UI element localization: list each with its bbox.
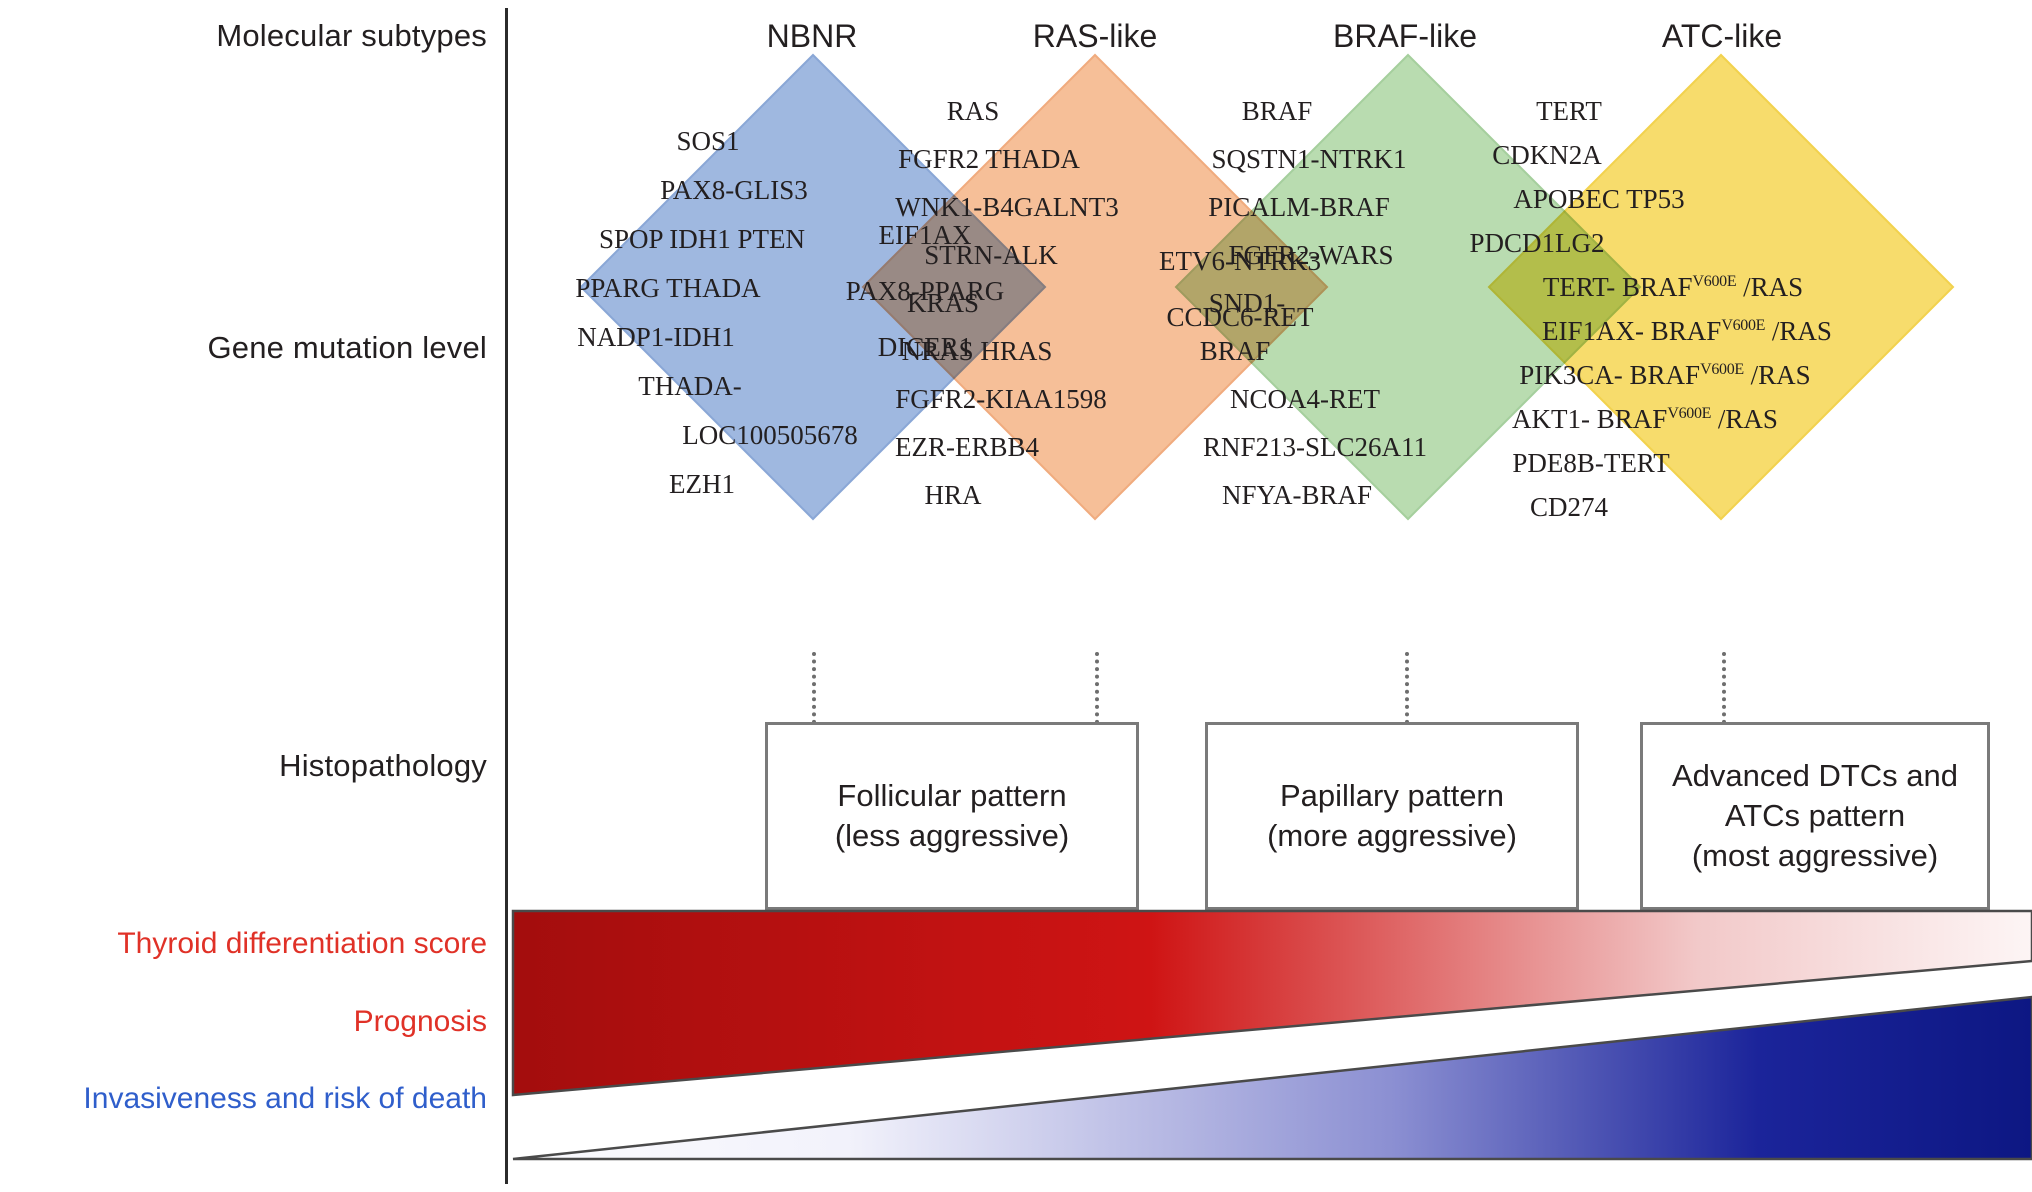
histopathology-box-follicular: Follicular pattern(less aggressive): [765, 722, 1139, 910]
row-label-molecular-subtypes: Molecular subtypes: [216, 18, 487, 54]
histopathology-box-papillary: Papillary pattern(more aggressive): [1205, 722, 1579, 910]
gene-list-nbnr: SOS1PAX8-GLIS3SPOP IDH1 PTENPPARG THADAN…: [558, 128, 858, 520]
histopathology-text-advanced: Advanced DTCs andATCs pattern(most aggre…: [1672, 756, 1958, 875]
gradient-wedges-svg: [505, 905, 2032, 1167]
gene-braf-item: NCOA4-RET: [1155, 386, 1455, 413]
gene-nbnr-item: SPOP IDH1 PTEN: [552, 226, 852, 253]
gene-atc-item: PDE8B-TERT: [1381, 450, 1801, 477]
column-header-braf-like: BRAF-like: [1333, 18, 1477, 55]
gene-ras-item: FGFR2-KIAA1598: [851, 386, 1151, 413]
column-header-ras-like: RAS-like: [1033, 18, 1157, 55]
gene-nbnr-item: PPARG THADA: [518, 275, 818, 302]
gene-ras-item: STRN-ALK: [841, 242, 1141, 269]
row-label-prognosis: Prognosis: [354, 1005, 487, 1039]
connector-ras-like: [1095, 652, 1099, 724]
histopathology-line: ATCs pattern: [1672, 796, 1958, 836]
connector-nbnr: [812, 652, 816, 724]
gene-nbnr-item: SOS1: [558, 128, 858, 155]
column-header-nbnr: NBNR: [767, 18, 858, 55]
histopathology-line: (more aggressive): [1267, 816, 1517, 856]
gene-atc-item: PDCD1LG2: [1327, 230, 1747, 257]
histopathology-line: Advanced DTCs and: [1672, 756, 1958, 796]
connector-braf-like: [1405, 652, 1409, 724]
histopathology-line: Follicular pattern: [835, 776, 1069, 816]
gene-ras-item: KRAS: [793, 290, 1093, 317]
gene-braf-item: BRAF: [1085, 338, 1385, 365]
connector-atc-like: [1722, 652, 1726, 724]
gene-ras-item: HRA: [803, 482, 1103, 509]
row-label-gene-mutation-level: Gene mutation level: [207, 330, 487, 366]
gene-atc-item: APOBEC TP53: [1389, 186, 1809, 213]
histopathology-text-papillary: Papillary pattern(more aggressive): [1267, 776, 1517, 855]
gene-ras-item: RAS: [823, 98, 1123, 125]
gene-ras-item: FGFR2 THADA: [839, 146, 1139, 173]
gene-ras-item: EZR-ERBB4: [817, 434, 1117, 461]
histopathology-line: (most aggressive): [1672, 836, 1958, 876]
gene-ras-item: WNK1-B4GALNT3: [857, 194, 1157, 221]
histopathology-box-advanced: Advanced DTCs andATCs pattern(most aggre…: [1640, 722, 1990, 910]
histopathology-line: Papillary pattern: [1267, 776, 1517, 816]
gene-atc-item: PIK3CA- BRAFV600E /RAS: [1455, 362, 1875, 389]
gene-nbnr-item: NADP1-IDH1: [506, 324, 806, 351]
gene-nbnr-item: THADA-: [540, 373, 840, 400]
gene-atc-item: AKT1- BRAFV600E /RAS: [1435, 406, 1855, 433]
gene-braf-item: SND1-: [1097, 290, 1397, 317]
gene-atc-item: TERT- BRAFV600E /RAS: [1463, 274, 1883, 301]
histopathology-text-follicular: Follicular pattern(less aggressive): [835, 776, 1069, 855]
gene-nbnr-item: PAX8-GLIS3: [584, 177, 884, 204]
row-label-thyroid-differentiation-score: Thyroid differentiation score: [117, 927, 487, 961]
gene-atc-item: EIF1AX- BRAFV600E /RAS: [1477, 318, 1897, 345]
gene-atc-item: CDKN2A: [1337, 142, 1757, 169]
row-label-histopathology: Histopathology: [279, 748, 487, 784]
column-header-atc-like: ATC-like: [1662, 18, 1782, 55]
row-label-invasiveness: Invasiveness and risk of death: [83, 1082, 487, 1116]
histopathology-line: (less aggressive): [835, 816, 1069, 856]
gene-ras-item: NRAS HRAS: [827, 338, 1127, 365]
gene-atc-item: TERT: [1359, 98, 1779, 125]
gradient-wedges: [505, 905, 2032, 1167]
gene-atc-item: CD274: [1359, 494, 1779, 521]
gene-list-atc-like: TERTCDKN2AAPOBEC TP53PDCD1LG2TERT- BRAFV…: [1455, 98, 1875, 538]
